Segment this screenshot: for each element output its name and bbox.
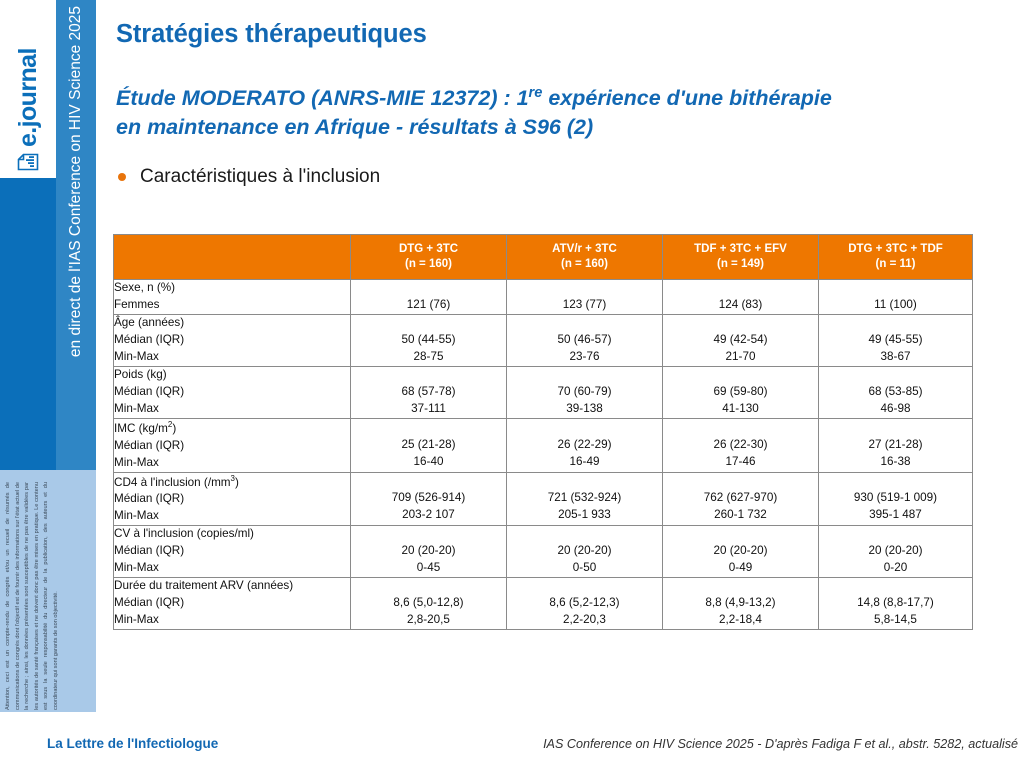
row-label-cell: CV à l'inclusion (copies/ml)Médian (IQR)… [114, 526, 351, 578]
table-corner-cell [114, 235, 351, 280]
unit-exponent: 3 [231, 474, 235, 483]
row-value-line: 14,8 (8,8-17,7) [819, 595, 972, 612]
row-label-line: Médian (IQR) [114, 543, 350, 560]
row-value-cell: 50 (44-55)28-75 [351, 314, 507, 366]
row-value-line: 20 (20-20) [507, 543, 662, 560]
document-chart-icon [17, 152, 39, 172]
row-value-line: 37-111 [351, 401, 506, 418]
row-value-line: 0-50 [507, 560, 662, 577]
row-value-cell: 68 (53-85)46-98 [819, 366, 973, 418]
ejournal-logo[interactable]: e.journal [0, 0, 56, 178]
row-label-line: Min-Max [114, 560, 350, 577]
row-value-cell: 762 (627-970)260-1 732 [663, 472, 819, 526]
row-value-line: 0-45 [351, 560, 506, 577]
row-label-line: Sexe, n (%) [114, 280, 350, 297]
row-value-cell: 709 (526-914)203-2 107 [351, 472, 507, 526]
row-value-line: 5,8-14,5 [819, 612, 972, 629]
row-label-cell: CD4 à l'inclusion (/mm3)Médian (IQR)Min-… [114, 472, 351, 526]
table-header-row: DTG + 3TC (n = 160) ATV/r + 3TC (n = 160… [114, 235, 973, 280]
row-label-cell: Poids (kg)Médian (IQR)Min-Max [114, 366, 351, 418]
row-value-cell: 70 (60-79)39-138 [507, 366, 663, 418]
baseline-characteristics-table: DTG + 3TC (n = 160) ATV/r + 3TC (n = 160… [113, 234, 973, 630]
row-value-line: 121 (76) [351, 297, 506, 314]
row-value-line: 124 (83) [663, 297, 818, 314]
column-header-2: TDF + 3TC + EFV (n = 149) [663, 235, 819, 280]
row-value-cell: 930 (519-1 009)395-1 487 [819, 472, 973, 526]
column-header-1: ATV/r + 3TC (n = 160) [507, 235, 663, 280]
row-value-line: 16-49 [507, 454, 662, 471]
row-label-line: Médian (IQR) [114, 384, 350, 401]
subtitle-line-2: en maintenance en Afrique - résultats à … [116, 115, 593, 139]
row-value-line: 50 (44-55) [351, 332, 506, 349]
column-header-1-drug: ATV/r + 3TC [507, 242, 662, 257]
row-value-line: 0-20 [819, 560, 972, 577]
row-label-line: Min-Max [114, 455, 350, 472]
row-value-line: 39-138 [507, 401, 662, 418]
disclaimer-text: Attention, ceci est un compte-rendu de c… [4, 480, 92, 712]
row-value-cell: 124 (83) [663, 280, 819, 315]
row-value-line: 28-75 [351, 349, 506, 366]
row-label-line: CV à l'inclusion (copies/ml) [114, 526, 350, 543]
row-value-line: 49 (45-55) [819, 332, 972, 349]
row-value-line: 2,2-20,3 [507, 612, 662, 629]
sidebar-blue-block [0, 178, 56, 470]
unit-exponent: 2 [168, 420, 172, 429]
row-label-line: Médian (IQR) [114, 332, 350, 349]
row-label-line: Min-Max [114, 508, 350, 525]
slide-content: Stratégies thérapeutiques Étude MODERATO… [96, 0, 1024, 768]
subtitle-part-2: expérience d'une bithérapie [542, 86, 831, 110]
bullet-item: Caractéristiques à l'inclusion [118, 166, 380, 188]
row-label-line: Min-Max [114, 612, 350, 629]
row-value-line: 27 (21-28) [819, 437, 972, 454]
row-value-line: 8,6 (5,0-12,8) [351, 595, 506, 612]
row-label-line: Durée du traitement ARV (années) [114, 578, 350, 595]
row-value-cell: 721 (532-924)205-1 933 [507, 472, 663, 526]
row-value-cell: 68 (57-78)37-111 [351, 366, 507, 418]
row-label-line: Médian (IQR) [114, 595, 350, 612]
row-label-cell: Sexe, n (%)Femmes [114, 280, 351, 315]
row-value-line: 38-67 [819, 349, 972, 366]
column-header-2-drug: TDF + 3TC + EFV [663, 242, 818, 257]
row-value-cell: 8,8 (4,9-13,2)2,2-18,4 [663, 578, 819, 630]
row-value-line: 8,8 (4,9-13,2) [663, 595, 818, 612]
ejournal-logo-text: e.journal [16, 48, 41, 147]
row-value-line: 205-1 933 [507, 507, 662, 524]
row-value-cell: 123 (77) [507, 280, 663, 315]
column-header-2-n: (n = 149) [663, 257, 818, 272]
row-label-line: CD4 à l'inclusion (/mm3) [114, 473, 350, 492]
row-value-cell: 25 (21-28)16-40 [351, 418, 507, 472]
row-value-line: 70 (60-79) [507, 384, 662, 401]
row-value-line: 203-2 107 [351, 507, 506, 524]
row-value-line: 2,8-20,5 [351, 612, 506, 629]
table-row: Poids (kg)Médian (IQR)Min-Max 68 (57-78)… [114, 366, 973, 418]
row-value-line: 69 (59-80) [663, 384, 818, 401]
row-value-line: 68 (57-78) [351, 384, 506, 401]
row-label-cell: Durée du traitement ARV (années)Médian (… [114, 578, 351, 630]
row-value-line: 68 (53-85) [819, 384, 972, 401]
column-header-0-drug: DTG + 3TC [351, 242, 506, 257]
row-value-cell: 14,8 (8,8-17,7)5,8-14,5 [819, 578, 973, 630]
row-value-line: 41-130 [663, 401, 818, 418]
table-row: CD4 à l'inclusion (/mm3)Médian (IQR)Min-… [114, 472, 973, 526]
footer-brand: La Lettre de l'Infectiologue [47, 736, 218, 751]
table-header: DTG + 3TC (n = 160) ATV/r + 3TC (n = 160… [114, 235, 973, 280]
row-value-line: 26 (22-30) [663, 437, 818, 454]
table-body: Sexe, n (%)Femmes 121 (76) 123 (77) 124 … [114, 280, 973, 630]
row-value-cell: 49 (42-54)21-70 [663, 314, 819, 366]
row-value-line: 20 (20-20) [819, 543, 972, 560]
table-row: Sexe, n (%)Femmes 121 (76) 123 (77) 124 … [114, 280, 973, 315]
row-value-line: 721 (532-924) [507, 490, 662, 507]
row-label-line: Âge (années) [114, 315, 350, 332]
table-row: Durée du traitement ARV (années)Médian (… [114, 578, 973, 630]
row-value-cell: 8,6 (5,2-12,3)2,2-20,3 [507, 578, 663, 630]
row-value-line: 49 (42-54) [663, 332, 818, 349]
row-value-line: 17-46 [663, 454, 818, 471]
row-value-line: 0-49 [663, 560, 818, 577]
column-header-0: DTG + 3TC (n = 160) [351, 235, 507, 280]
footer-source: IAS Conference on HIV Science 2025 - D'a… [543, 737, 1018, 751]
row-label-line: Min-Max [114, 349, 350, 366]
row-value-line: 2,2-18,4 [663, 612, 818, 629]
row-value-cell: 20 (20-20)0-50 [507, 526, 663, 578]
row-value-line: 46-98 [819, 401, 972, 418]
row-value-line: 23-76 [507, 349, 662, 366]
row-label-cell: Âge (années)Médian (IQR)Min-Max [114, 314, 351, 366]
row-value-line: 709 (526-914) [351, 490, 506, 507]
row-value-cell: 121 (76) [351, 280, 507, 315]
row-value-line: 11 (100) [819, 297, 972, 314]
row-value-cell: 50 (46-57)23-76 [507, 314, 663, 366]
column-header-1-n: (n = 160) [507, 257, 662, 272]
column-header-3: DTG + 3TC + TDF (n = 11) [819, 235, 973, 280]
row-value-line: 395-1 487 [819, 507, 972, 524]
row-value-line: 8,6 (5,2-12,3) [507, 595, 662, 612]
table-row: Âge (années)Médian (IQR)Min-Max 50 (44-5… [114, 314, 973, 366]
row-value-line: 21-70 [663, 349, 818, 366]
column-header-0-n: (n = 160) [351, 257, 506, 272]
row-value-line: 260-1 732 [663, 507, 818, 524]
row-value-line: 16-38 [819, 454, 972, 471]
row-value-cell: 20 (20-20)0-49 [663, 526, 819, 578]
row-value-cell: 26 (22-30)17-46 [663, 418, 819, 472]
row-value-cell: 11 (100) [819, 280, 973, 315]
row-value-cell: 27 (21-28)16-38 [819, 418, 973, 472]
row-label-cell: IMC (kg/m2)Médian (IQR)Min-Max [114, 418, 351, 472]
row-label-line: Médian (IQR) [114, 438, 350, 455]
row-label-line: Femmes [114, 297, 350, 314]
row-label-line: IMC (kg/m2) [114, 419, 350, 438]
row-value-line: 20 (20-20) [351, 543, 506, 560]
conference-label: en direct de l'IAS Conference on HIV Sci… [56, 0, 96, 470]
row-value-cell: 20 (20-20)0-45 [351, 526, 507, 578]
row-value-line: 762 (627-970) [663, 490, 818, 507]
row-value-line: 930 (519-1 009) [819, 490, 972, 507]
row-value-cell: 26 (22-29)16-49 [507, 418, 663, 472]
page-title: Stratégies thérapeutiques [116, 20, 427, 49]
row-value-line: 26 (22-29) [507, 437, 662, 454]
row-label-line: Médian (IQR) [114, 491, 350, 508]
table-row: IMC (kg/m2)Médian (IQR)Min-Max 25 (21-28… [114, 418, 973, 472]
row-value-line: 25 (21-28) [351, 437, 506, 454]
bullet-label: Caractéristiques à l'inclusion [140, 166, 380, 188]
left-sidebar: e.journal en direct de l'IAS Conference … [0, 0, 96, 768]
row-value-cell: 20 (20-20)0-20 [819, 526, 973, 578]
bullet-dot-icon [118, 173, 126, 181]
subtitle-ordinal-sup: re [529, 85, 543, 101]
row-value-cell: 8,6 (5,0-12,8)2,8-20,5 [351, 578, 507, 630]
row-value-line: 123 (77) [507, 297, 662, 314]
row-label-line: Min-Max [114, 401, 350, 418]
table-row: CV à l'inclusion (copies/ml)Médian (IQR)… [114, 526, 973, 578]
row-label-line: Poids (kg) [114, 367, 350, 384]
column-header-3-n: (n = 11) [819, 257, 972, 272]
row-value-line: 16-40 [351, 454, 506, 471]
row-value-line: 50 (46-57) [507, 332, 662, 349]
row-value-line: 20 (20-20) [663, 543, 818, 560]
column-header-3-drug: DTG + 3TC + TDF [819, 242, 972, 257]
slide-subtitle: Étude MODERATO (ANRS-MIE 12372) : 1re ex… [116, 84, 996, 141]
row-value-cell: 49 (45-55)38-67 [819, 314, 973, 366]
row-value-cell: 69 (59-80)41-130 [663, 366, 819, 418]
subtitle-part-1: Étude MODERATO (ANRS-MIE 12372) : 1 [116, 86, 529, 110]
